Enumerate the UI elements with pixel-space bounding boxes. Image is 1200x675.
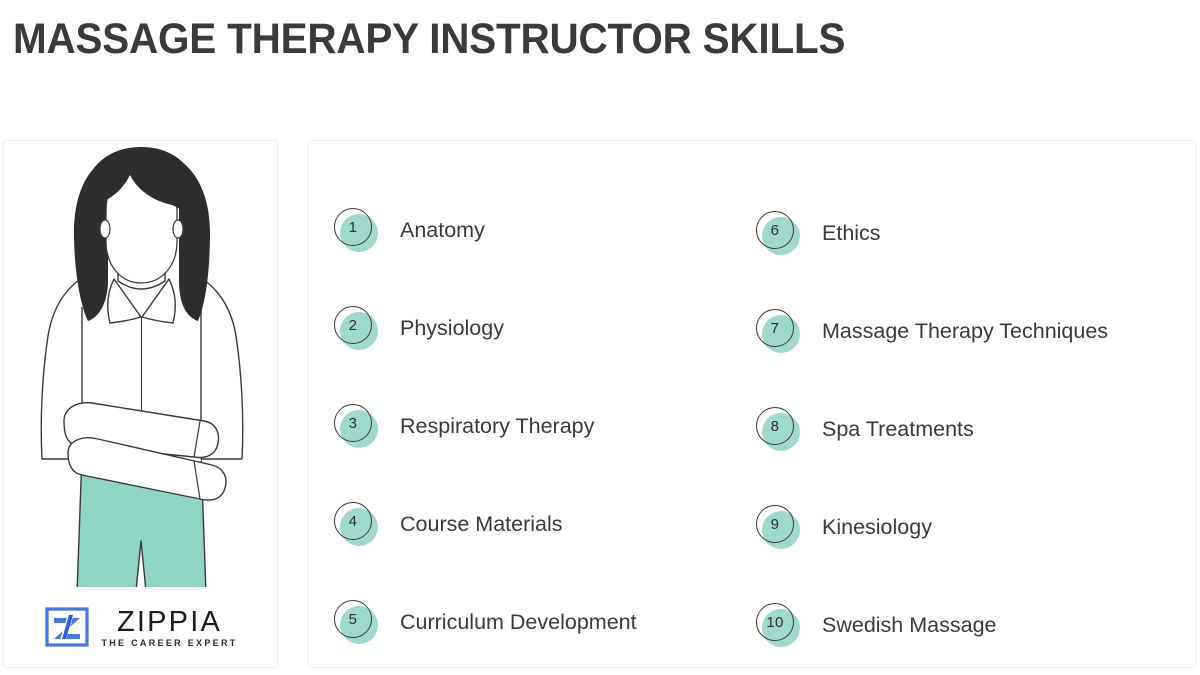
skill-label: Ethics [822, 220, 881, 246]
illustration-card: ZIPPIA THE CAREER EXPERT [3, 140, 278, 668]
zippia-tagline: THE CAREER EXPERT [101, 638, 237, 648]
skill-number-badge-5: 5 [334, 600, 378, 644]
skill-number-badge-6: 6 [756, 211, 800, 255]
badge-number: 5 [334, 600, 372, 638]
page-title: MASSAGE THERAPY INSTRUCTOR SKILLS [13, 14, 845, 64]
skill-item-8[interactable]: 8 Spa Treatments [756, 380, 1186, 478]
skill-label: Kinesiology [822, 514, 932, 540]
skill-number-badge-10: 10 [756, 603, 800, 647]
skill-label: Respiratory Therapy [400, 413, 594, 439]
skills-column-right: 6 Ethics 7 Massage Therapy Techniques 8 [756, 184, 1186, 674]
skills-column-left: 1 Anatomy 2 Physiology 3 Respiratory Th [334, 181, 764, 671]
skill-item-3[interactable]: 3 Respiratory Therapy [334, 377, 764, 475]
skill-number-badge-8: 8 [756, 407, 800, 451]
skill-label: Curriculum Development [400, 609, 637, 635]
skill-label: Massage Therapy Techniques [822, 318, 1108, 344]
skill-item-1[interactable]: 1 Anatomy [334, 181, 764, 279]
skill-item-6[interactable]: 6 Ethics [756, 184, 1186, 282]
skill-item-7[interactable]: 7 Massage Therapy Techniques [756, 282, 1186, 380]
ear-left [100, 220, 110, 238]
skill-number-badge-9: 9 [756, 505, 800, 549]
skill-item-5[interactable]: 5 Curriculum Development [334, 573, 764, 671]
skill-number-badge-4: 4 [334, 502, 378, 546]
female-instructor-illustration [4, 140, 278, 621]
skills-grid: 1 Anatomy 2 Physiology 3 Respiratory Th [309, 141, 1195, 667]
badge-number: 7 [756, 309, 794, 347]
badge-number: 9 [756, 505, 794, 543]
skill-item-2[interactable]: 2 Physiology [334, 279, 764, 377]
skill-item-4[interactable]: 4 Course Materials [334, 475, 764, 573]
badge-number: 10 [756, 603, 794, 641]
skill-label: Course Materials [400, 511, 563, 537]
skill-number-badge-2: 2 [334, 306, 378, 350]
skill-label: Spa Treatments [822, 416, 974, 442]
zippia-logo[interactable]: ZIPPIA THE CAREER EXPERT [4, 587, 278, 667]
skill-item-10[interactable]: 10 Swedish Massage [756, 576, 1186, 674]
skill-number-badge-1: 1 [334, 208, 378, 252]
badge-number: 3 [334, 404, 372, 442]
badge-number: 2 [334, 306, 372, 344]
zippia-logo-icon [45, 607, 89, 647]
badge-number: 4 [334, 502, 372, 540]
ear-right [173, 220, 183, 238]
skill-label: Swedish Massage [822, 612, 996, 638]
skill-item-9[interactable]: 9 Kinesiology [756, 478, 1186, 576]
zippia-wordmark: ZIPPIA [117, 607, 222, 637]
badge-number: 8 [756, 407, 794, 445]
skills-card: 1 Anatomy 2 Physiology 3 Respiratory Th [308, 140, 1196, 668]
skill-label: Anatomy [400, 217, 485, 243]
badge-number: 1 [334, 208, 372, 246]
badge-number: 6 [756, 211, 794, 249]
skill-number-badge-3: 3 [334, 404, 378, 448]
skill-number-badge-7: 7 [756, 309, 800, 353]
skill-label: Physiology [400, 315, 504, 341]
